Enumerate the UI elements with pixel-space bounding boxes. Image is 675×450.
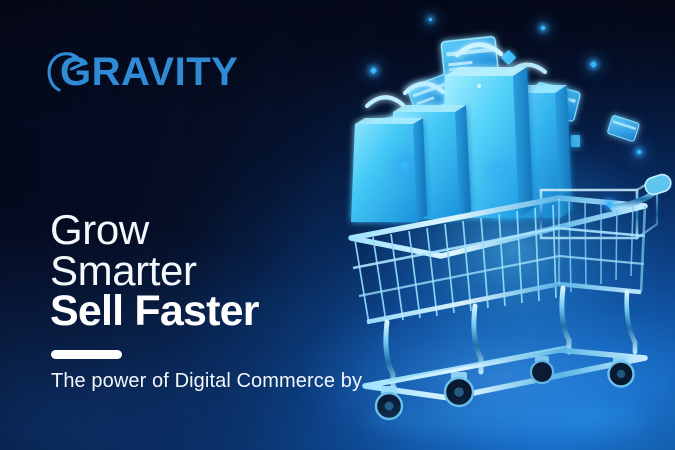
subtitle: The power of Digital Commerce by (51, 368, 362, 394)
brand-logo[interactable]: GRAVITY (50, 46, 238, 98)
headline: Grow Smarter Sell Faster (50, 209, 259, 332)
headline-line-3: Sell Faster (50, 291, 259, 332)
headline-divider (51, 350, 122, 359)
banner-content: GRAVITY Grow Smarter Sell Faster The pow… (0, 0, 430, 450)
promo-banner: GRAVITY Grow Smarter Sell Faster The pow… (0, 0, 675, 450)
headline-line-2: Smarter (50, 250, 259, 291)
brand-wordmark: GRAVITY (50, 52, 238, 92)
headline-line-1: Grow (50, 209, 259, 250)
